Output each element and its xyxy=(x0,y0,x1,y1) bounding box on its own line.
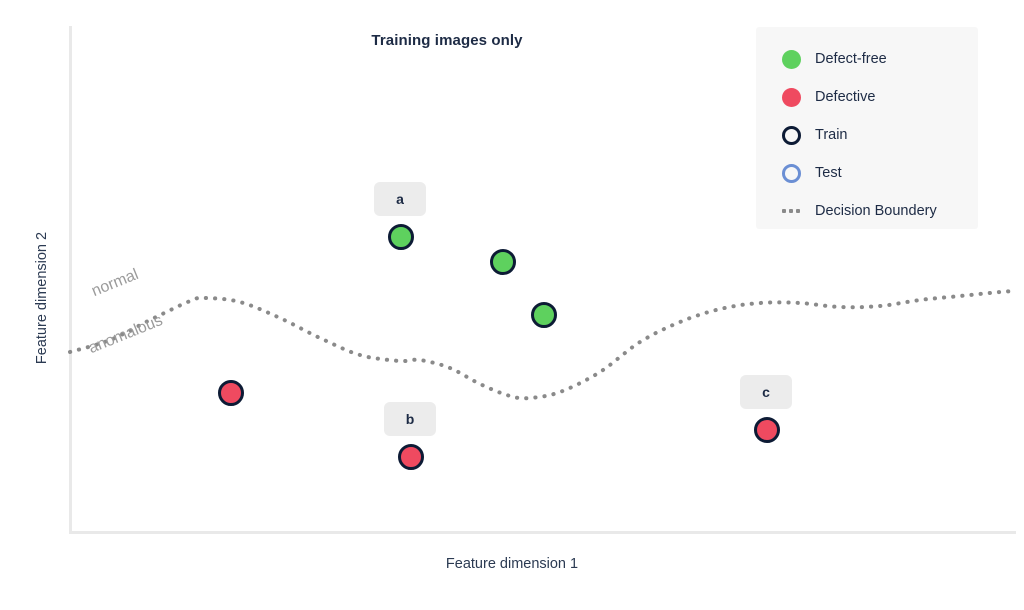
legend-marker-dotted-line xyxy=(778,209,804,213)
scatter-chart-figure: Training images only normal anomalous ab… xyxy=(0,0,1024,610)
data-point-1-0 xyxy=(218,380,244,406)
y-axis-spine xyxy=(69,26,72,534)
legend-decision-boundary[interactable]: Decision Boundery xyxy=(778,192,978,230)
x-axis-spine xyxy=(69,531,1016,534)
legend-test[interactable]: Test xyxy=(778,154,978,192)
y-axis-title: Feature dimension 2 xyxy=(34,218,50,378)
data-point-c xyxy=(754,417,780,443)
point-label-c: c xyxy=(740,375,792,409)
region-label-normal: normal xyxy=(89,266,141,301)
filled-circle-icon xyxy=(782,50,801,69)
chart-legend: Defect-freeDefectiveTrainTestDecision Bo… xyxy=(756,27,978,229)
legend-label: Defect-free xyxy=(815,51,887,67)
legend-marker-filled-circle xyxy=(778,88,804,107)
filled-circle-icon xyxy=(782,88,801,107)
data-point-0-1 xyxy=(490,249,516,275)
data-point-a xyxy=(388,224,414,250)
data-point-b xyxy=(398,444,424,470)
dotted-line-icon xyxy=(782,209,800,213)
legend-label: Test xyxy=(815,165,842,181)
legend-marker-filled-circle xyxy=(778,50,804,69)
point-label-b: b xyxy=(384,402,436,436)
legend-label: Train xyxy=(815,127,848,143)
ring-circle-icon xyxy=(782,126,801,145)
region-label-anomalous: anomalous xyxy=(86,312,165,358)
x-axis-title: Feature dimension 1 xyxy=(0,556,1024,572)
legend-train[interactable]: Train xyxy=(778,116,978,154)
data-point-0-2 xyxy=(531,302,557,328)
ring-circle-icon xyxy=(782,164,801,183)
point-label-a: a xyxy=(374,182,426,216)
legend-defective[interactable]: Defective xyxy=(778,78,978,116)
legend-defect-free[interactable]: Defect-free xyxy=(778,40,978,78)
legend-label: Decision Boundery xyxy=(815,203,937,219)
legend-marker-ring xyxy=(778,126,804,145)
legend-label: Defective xyxy=(815,89,875,105)
legend-marker-ring xyxy=(778,164,804,183)
